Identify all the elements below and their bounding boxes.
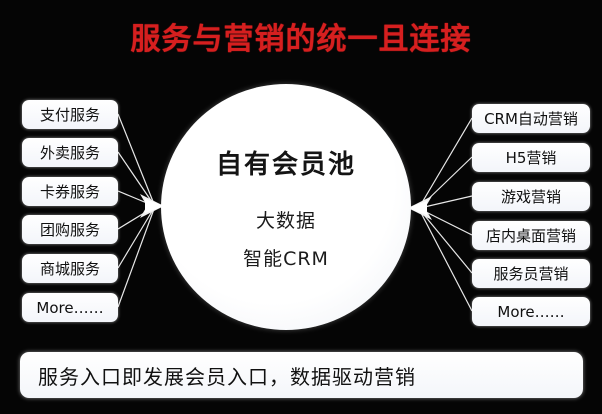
summary-banner-text: 服务入口即发展会员入口，数据驱动营销: [20, 361, 416, 390]
marketing-item-in-store[interactable]: 店内桌面营销: [472, 221, 590, 250]
service-item-payment[interactable]: 支付服务: [22, 100, 118, 129]
service-item-mall[interactable]: 商城服务: [22, 254, 118, 283]
center-subtitle-2: 智能CRM: [243, 244, 329, 271]
infographic-canvas: 服务与营销的统一且连接: [0, 0, 602, 414]
service-item-coupon[interactable]: 卡券服务: [22, 177, 118, 206]
connector-right-6: [420, 211, 472, 311]
service-item-more[interactable]: More……: [22, 293, 118, 322]
marketing-item-more[interactable]: More……: [472, 297, 590, 326]
center-node: 自有会员池 大数据 智能CRM: [161, 84, 411, 330]
connector-right-1: [420, 118, 472, 206]
marketing-item-crm-auto[interactable]: CRM自动营销: [472, 104, 590, 133]
summary-banner: 服务入口即发展会员入口，数据驱动营销: [20, 352, 583, 398]
marketing-item-h5[interactable]: H5营销: [472, 143, 590, 172]
connector-right-5: [420, 210, 472, 273]
marketing-item-staff[interactable]: 服务员营销: [472, 259, 590, 288]
marketing-item-game[interactable]: 游戏营销: [472, 182, 590, 211]
service-item-groupbuy[interactable]: 团购服务: [22, 215, 118, 244]
service-item-takeaway[interactable]: 外卖服务: [22, 138, 118, 167]
center-subtitle-1: 大数据: [256, 206, 316, 233]
center-title: 自有会员池: [216, 144, 356, 181]
